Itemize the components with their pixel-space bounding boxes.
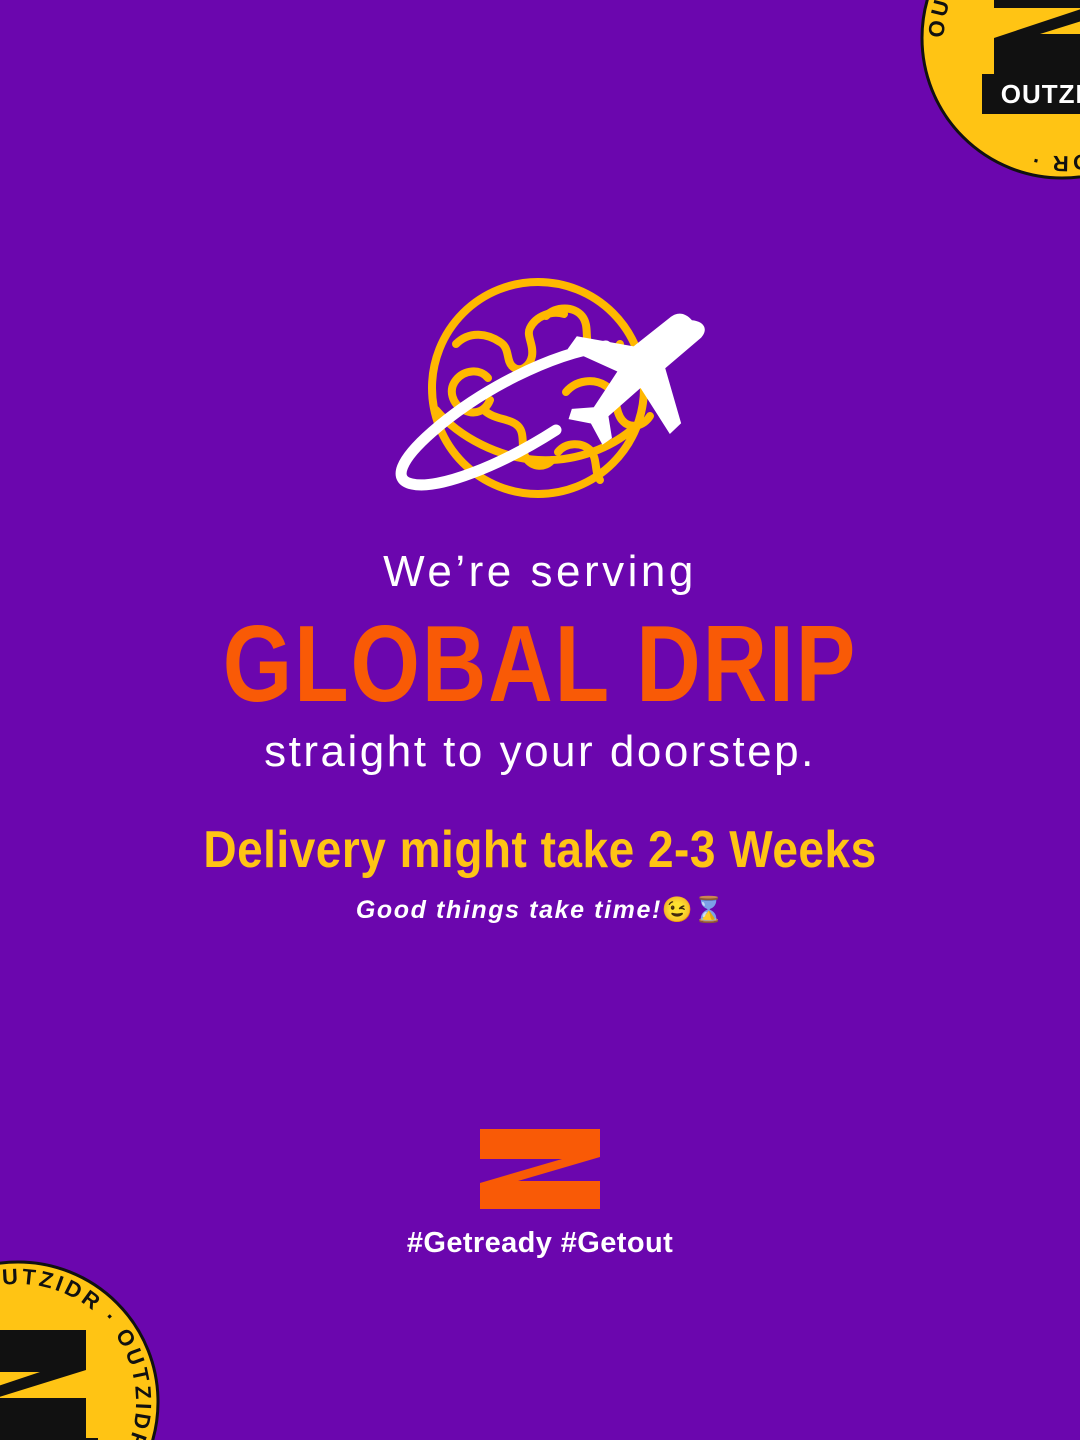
delivery-note-emoji: 😉⌛ [662, 896, 724, 924]
corner-badge-bottom-left: OUTZIDR · OUTZIDR · OUTZIDR · OUTZIDR · … [0, 1252, 168, 1440]
footer-block: #Getready #Getout [0, 1127, 1080, 1260]
badge-z-logo [0, 1330, 86, 1438]
delivery-note-text: Good things take time! [356, 896, 662, 924]
badge-circle [922, 0, 1080, 178]
badge-ring-text-run: OUTZIDR · OUTZIDR · OUTZIDR · OUTZIDR · [0, 1264, 156, 1440]
badge-z-logo [994, 0, 1080, 74]
brand-z-logo [478, 1127, 602, 1211]
badge-wordmark-bar: OUTZIDR [982, 74, 1080, 114]
badge-ring-text: OUTZIDR · OUTZIDR · OUTZIDR · OUTZIDR · [924, 0, 1080, 176]
delivery-headline: Delivery might take 2-3 Weeks [0, 820, 1080, 879]
hashtags-text: #Getready #Getout [0, 1227, 1080, 1260]
kicker-text: We’re serving [0, 548, 1080, 596]
headline-block: We’re serving GLOBAL DRIP straight to yo… [0, 548, 1080, 776]
promo-poster: OUTZIDR · OUTZIDR · OUTZIDR · OUTZIDR · … [0, 0, 1080, 1440]
globe-plane-illustration [360, 270, 720, 510]
corner-badge-top-right: OUTZIDR · OUTZIDR · OUTZIDR · OUTZIDR · … [912, 0, 1080, 188]
delivery-note: Good things take time!😉⌛ [0, 895, 1080, 925]
badge-wordmark: OUTZIDR [1001, 79, 1080, 109]
headline-text: GLOBAL DRIP [16, 610, 1064, 719]
subline-text: straight to your doorstep. [0, 728, 1080, 776]
badge-ring-text: OUTZIDR · OUTZIDR · OUTZIDR · OUTZIDR · [0, 1264, 156, 1440]
delivery-block: Delivery might take 2-3 Weeks Good thing… [0, 820, 1080, 925]
badge-ring-text-run: OUTZIDR · OUTZIDR · OUTZIDR · OUTZIDR · [924, 0, 1080, 176]
badge-circle [0, 1262, 158, 1440]
